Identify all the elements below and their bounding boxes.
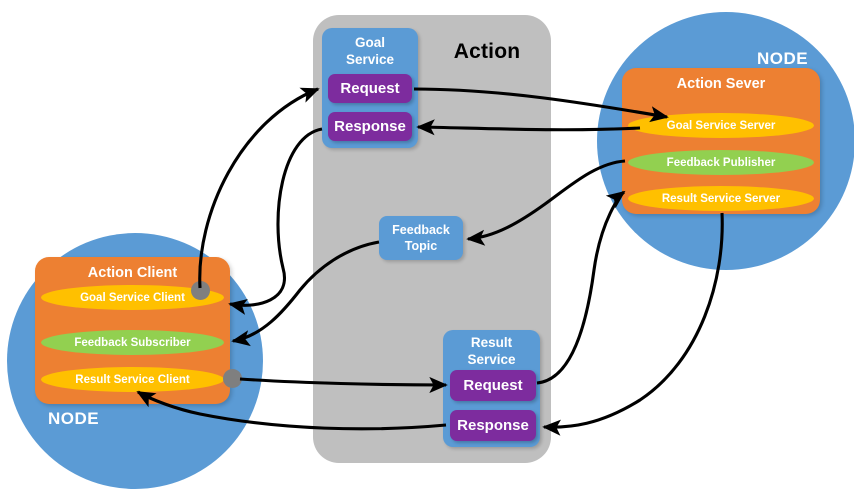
result-service-title-line1: Result bbox=[471, 335, 512, 350]
client-result-connector-dot bbox=[223, 369, 242, 388]
entity-result-service-client: Result Service Client bbox=[41, 367, 224, 392]
diagram-canvas: Action Client Goal Service Client Feedba… bbox=[0, 0, 854, 480]
feedback-topic-box: Feedback Topic bbox=[379, 216, 463, 260]
result-service-title-line2: Service bbox=[467, 352, 515, 367]
client-goal-connector-dot bbox=[191, 281, 210, 300]
goal-service-title: Goal Service bbox=[322, 34, 418, 68]
arrow-goal-response-to-client bbox=[230, 129, 322, 305]
action-container-title: Action bbox=[432, 37, 542, 67]
action-client-title: Action Client bbox=[35, 265, 230, 281]
result-service-response-pill: Response bbox=[450, 410, 536, 441]
entity-goal-service-server: Goal Service Server bbox=[628, 113, 814, 138]
goal-service-response-pill: Response bbox=[328, 112, 412, 141]
entity-result-service-server: Result Service Server bbox=[628, 186, 814, 211]
goal-service-title-line2: Service bbox=[346, 52, 394, 67]
result-service-title: Result Service bbox=[443, 334, 540, 368]
goal-service-title-line1: Goal bbox=[355, 35, 385, 50]
feedback-topic-line2: Topic bbox=[405, 239, 437, 253]
entity-feedback-publisher: Feedback Publisher bbox=[628, 150, 814, 175]
server-node-label: NODE bbox=[757, 49, 808, 69]
goal-service-request-pill: Request bbox=[328, 74, 412, 103]
entity-feedback-subscriber: Feedback Subscriber bbox=[41, 330, 224, 355]
result-service-request-pill: Request bbox=[450, 370, 536, 401]
client-node-label: NODE bbox=[48, 409, 99, 429]
feedback-topic-line1: Feedback bbox=[392, 223, 450, 237]
action-server-title: Action Sever bbox=[622, 76, 820, 92]
